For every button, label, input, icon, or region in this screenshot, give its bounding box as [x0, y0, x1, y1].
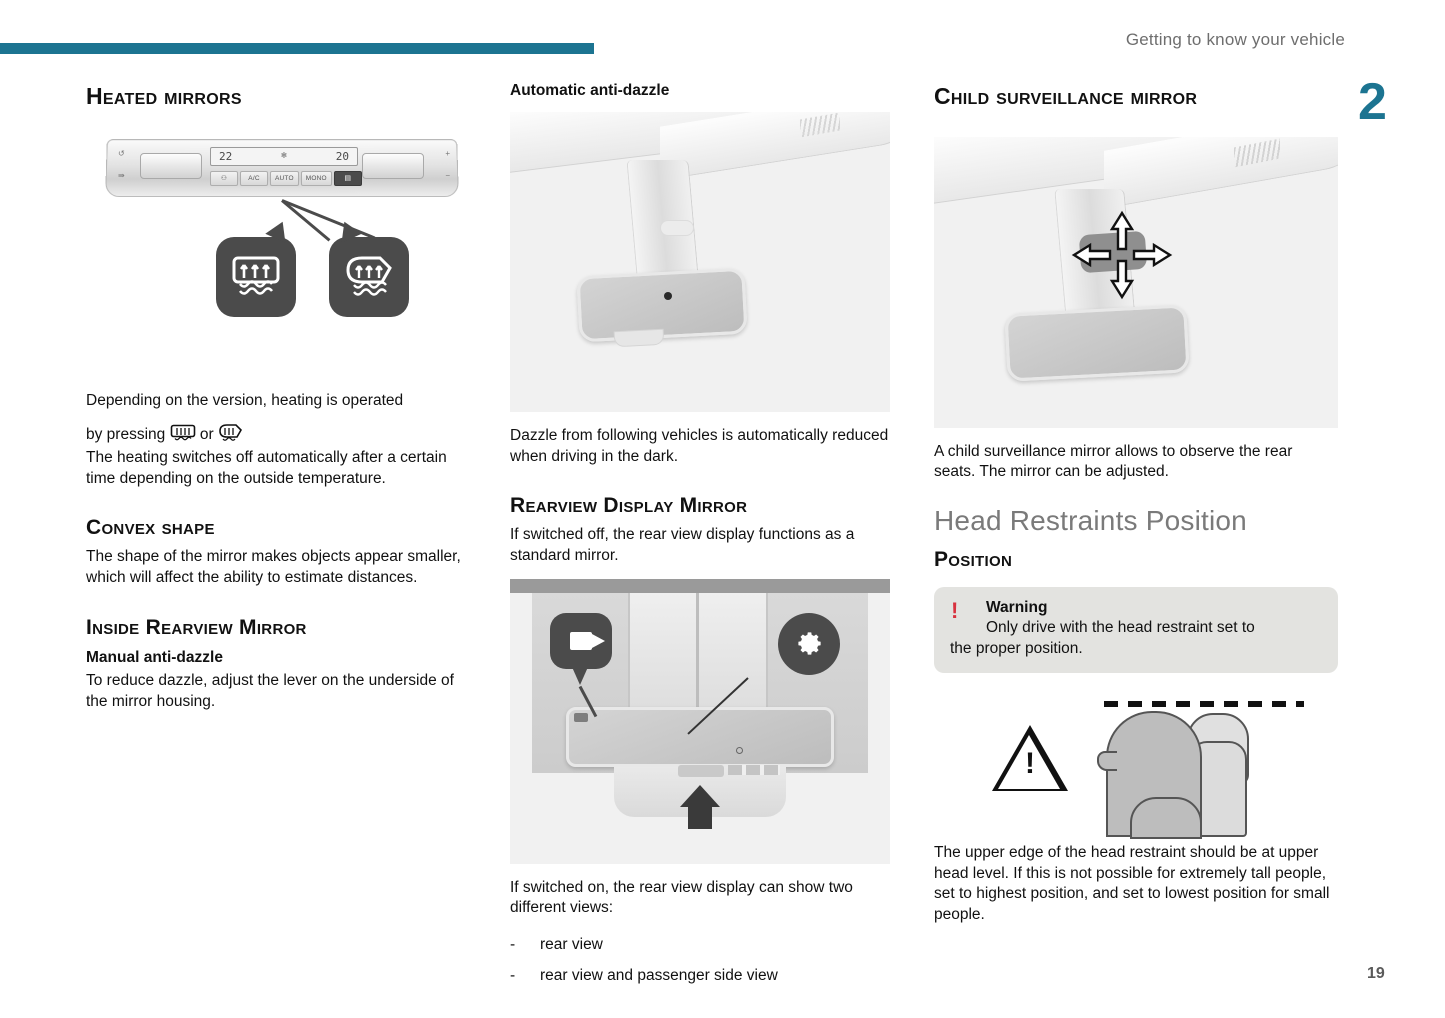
callout-camera [550, 613, 612, 669]
sub-manual-anti-dazzle: Manual anti-dazzle [86, 649, 464, 667]
list-item: - rear view [510, 935, 890, 956]
list-item: - rear view and passenger side view [510, 966, 890, 987]
fan-plus-icon: + [445, 149, 450, 158]
heading-rearview-display-mirror: Rearview Display Mirror [510, 493, 890, 519]
warning-text: Only drive with the head restraint set t… [986, 618, 1322, 659]
para-child-surveillance: A child surveillance mirror allows to ob… [934, 442, 1338, 483]
lcd-right-temp: 20 [336, 150, 349, 163]
column-1: Heated mirrors 22 ❄ 20 ⚇ A/C AUTO MONO ▤ [86, 82, 464, 712]
heading-inside-rearview-mirror: Inside Rearview Mirror [86, 615, 464, 641]
para-manual-anti-dazzle: To reduce dazzle, adjust the lever on th… [86, 671, 464, 712]
page-number: 19 [1367, 965, 1385, 983]
toggle-arrow-stem [688, 807, 712, 829]
lcd-left-temp: 22 [219, 150, 232, 163]
heading-child-surveillance-mirror: Child surveillance mirror [934, 82, 1234, 111]
settings-indicator-icon [736, 747, 743, 754]
overhead-console [1104, 137, 1338, 209]
camera-icon [570, 632, 592, 650]
para-heating-2-pre: by pressing [86, 426, 165, 443]
callout-rear-window-heating [216, 237, 296, 317]
header-accent-bar [0, 43, 594, 54]
warning-text-line2: the proper position. [950, 639, 1322, 659]
display-toggle-switch [678, 765, 724, 777]
snowflake-icon: ❄ [281, 151, 286, 161]
gear-icon [794, 629, 824, 659]
list-item-label: rear view and passenger side view [540, 966, 778, 987]
list-dash: - [510, 935, 518, 956]
mirror-heating-inline-icon [218, 423, 243, 444]
callout-mirror-heating [329, 237, 409, 317]
head-level-dashed-line [1104, 701, 1304, 707]
mirror-glass [1004, 304, 1189, 381]
light-sensor-icon [664, 292, 672, 300]
heading-convex-shape: Convex shape [86, 515, 464, 541]
chapter-number: 2 [1358, 76, 1387, 128]
shroud-seam [696, 593, 699, 719]
mono-button: MONO [301, 171, 332, 186]
para-heating-2-or: or [200, 426, 214, 443]
heading-head-restraints-position: Head Restraints Position [934, 505, 1338, 537]
para-switched-on: If switched on, the rear view display ca… [510, 878, 890, 919]
camera-indicator-icon [574, 713, 588, 722]
callout-tail-left [265, 217, 292, 242]
climate-display: 22 ❄ 20 [210, 147, 358, 166]
auto-button: AUTO [270, 171, 299, 186]
views-list: - rear view - rear view and passenger si… [510, 935, 890, 987]
airflow-icon: ⇛ [118, 171, 125, 180]
rear-window-heating-inline-icon [170, 424, 196, 443]
climate-control-panel: 22 ❄ 20 ⚇ A/C AUTO MONO ▤ ↺ ⇛ + − [106, 139, 458, 197]
occupant-face-profile [1097, 751, 1117, 771]
defrost-button: ⚇ [210, 171, 238, 186]
warning-title: Warning [986, 599, 1322, 617]
recirculation-icon: ↺ [118, 149, 125, 158]
heading-heated-mirrors: Heated mirrors [86, 82, 464, 111]
para-upper-edge: The upper edge of the head restraint sho… [934, 843, 1338, 925]
panel-button-row: ⚇ A/C AUTO MONO ▤ [210, 171, 362, 186]
warning-triangle-exclamation: ! [1025, 751, 1035, 777]
callout-settings [778, 613, 840, 675]
callout-camera-tail [572, 667, 588, 685]
manual-page: Getting to know your vehicle 2 19 Heated… [0, 0, 1445, 1018]
adjust-arrows-icon [1070, 209, 1174, 301]
warning-box: ! Warning Only drive with the head restr… [934, 587, 1338, 673]
para-heating-3: The heating switches off automatically a… [86, 448, 464, 489]
list-item-label: rear view [540, 935, 603, 956]
ac-button: A/C [240, 171, 268, 186]
sub-automatic-anti-dazzle: Automatic anti-dazzle [510, 82, 890, 100]
para-dazzle: Dazzle from following vehicles is automa… [510, 426, 890, 467]
para-heating-2: by pressing or [86, 423, 464, 446]
temperature-knob-left [140, 153, 202, 179]
windscreen-top-band [510, 579, 890, 593]
figure-climate-panel: 22 ❄ 20 ⚇ A/C AUTO MONO ▤ ↺ ⇛ + − [86, 129, 464, 365]
mirror-heating-icon [342, 254, 396, 300]
para-convex: The shape of the mirror makes objects ap… [86, 547, 464, 588]
list-dash: - [510, 966, 518, 987]
figure-automatic-anti-dazzle [510, 112, 890, 412]
camera-lens-icon [592, 634, 605, 648]
rear-demist-button: ▤ [334, 171, 362, 186]
stem-button [660, 220, 694, 236]
column-3: Child surveillance mirror A child survei… [934, 82, 1338, 926]
switch-ribs [728, 765, 780, 775]
column-2: Automatic anti-dazzle Dazzle from follow… [510, 82, 890, 997]
fan-minus-icon: − [445, 171, 450, 180]
para-switched-off: If switched off, the rear view display f… [510, 525, 890, 566]
para-heating-1: Depending on the version, heating is ope… [86, 391, 464, 412]
heading-position: Position [934, 547, 1338, 573]
up-arrow-icon [680, 785, 720, 807]
temperature-knob-right [362, 153, 424, 179]
occupant-shoulders [1130, 797, 1202, 839]
warning-text-line1: Only drive with the head restraint set t… [986, 619, 1255, 636]
figure-head-restraint-position: ! [934, 689, 1338, 829]
anti-dazzle-lever [614, 329, 665, 348]
header-title: Getting to know your vehicle [1126, 30, 1345, 50]
display-mirror-glass [566, 707, 834, 767]
rear-window-heating-icon [230, 254, 282, 300]
figure-child-surveillance-mirror [934, 137, 1338, 428]
warning-exclamation-icon: ! [951, 601, 960, 621]
figure-rearview-display-mirror [510, 579, 890, 864]
overhead-console [660, 112, 890, 181]
